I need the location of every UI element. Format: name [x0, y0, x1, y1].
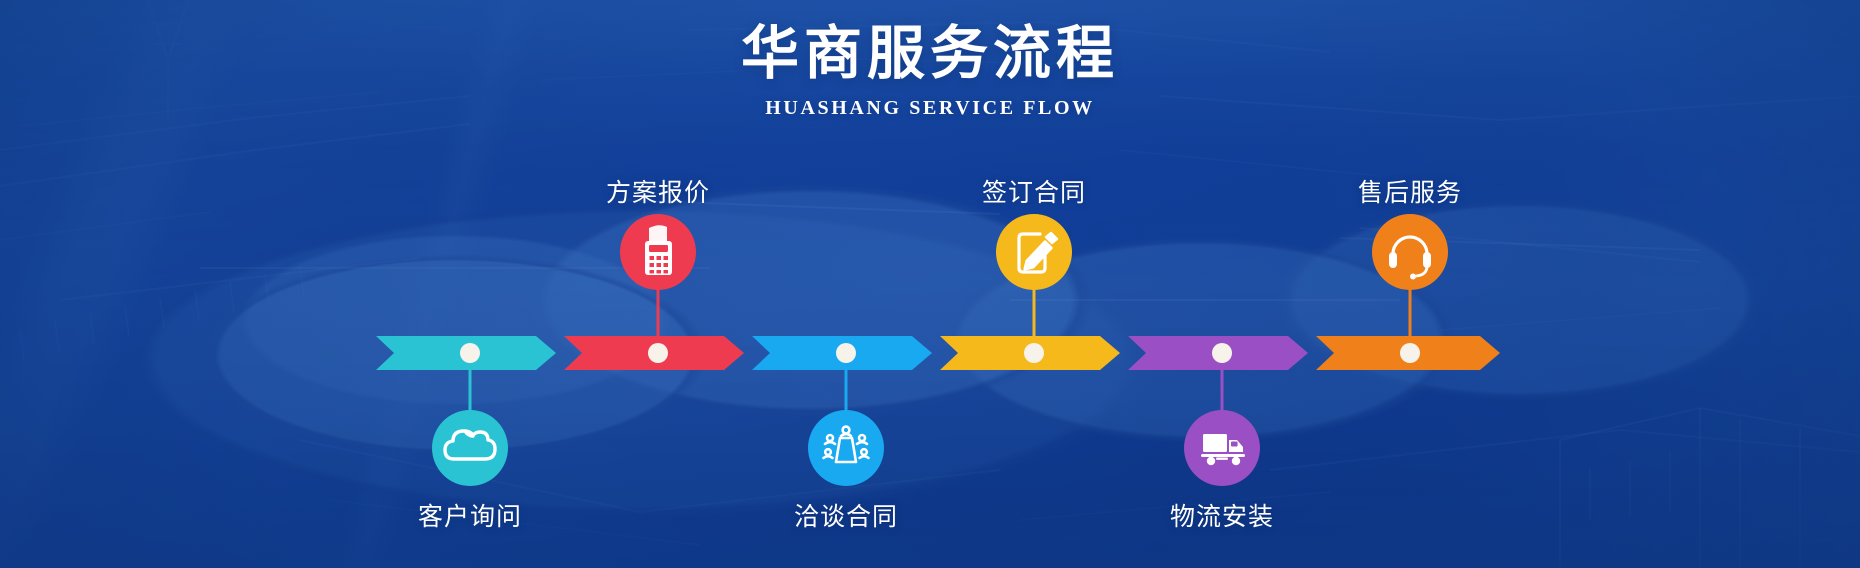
flow-node-dot-1 [460, 343, 480, 363]
step-2-node[interactable] [620, 214, 696, 290]
step-label-6: 售后服务 [1358, 173, 1462, 209]
step-label-1: 客户询问 [418, 497, 522, 533]
flow-node-dot-4 [1024, 343, 1044, 363]
flow-node-dot-6 [1400, 343, 1420, 363]
step-5-node[interactable] [1184, 410, 1260, 486]
step-label-3: 洽谈合同 [794, 497, 898, 533]
step-1-node[interactable] [432, 410, 508, 486]
step-label-4: 签订合同 [982, 173, 1086, 209]
step-6-circle [1372, 214, 1448, 290]
flow-graphics [0, 0, 1860, 568]
step-label-2: 方案报价 [606, 173, 710, 209]
flow-arrow-bar [376, 336, 1500, 370]
step-label-5: 物流安装 [1170, 497, 1274, 533]
step-3-circle [808, 410, 884, 486]
step-6-node[interactable] [1372, 214, 1448, 290]
flow-node-dot-5 [1212, 343, 1232, 363]
service-flow-diagram: 客户询问 方案报价 洽谈合同 签订合同 物流安装 售后服务 [0, 0, 1860, 568]
step-4-node[interactable] [996, 214, 1072, 290]
step-3-node[interactable] [808, 410, 884, 486]
flow-node-dot-2 [648, 343, 668, 363]
flow-node-dot-3 [836, 343, 856, 363]
